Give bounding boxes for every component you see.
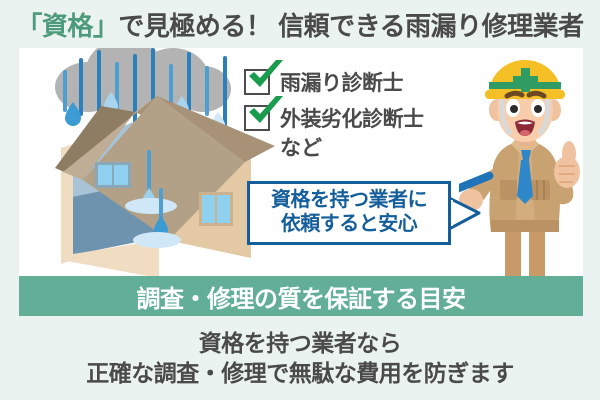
qualification-checklist: 雨漏り診断士 外装劣化診断士 など [244,64,464,159]
poster-stage: 「資格」で見極める！ 信頼できる雨漏り修理業者 [0,0,600,400]
speech-bubble-tail [449,196,483,232]
speech-bubble-line1: 資格を持つ業者に [271,189,427,213]
checklist-item[interactable]: 外装劣化診断士 [244,100,464,136]
checkmark-icon [245,96,285,130]
checkbox-icon[interactable] [244,105,270,131]
worker-illustration [459,54,583,276]
checkmark-icon [245,60,285,94]
checklist-item-label: 雨漏り診断士 [280,67,403,97]
speech-bubble-line2: 依頼すると安心 [281,213,418,237]
checkbox-icon[interactable] [244,69,270,95]
green-banner-text: 調査・修理の質を保証する目安 [137,279,466,314]
checklist-item[interactable]: 雨漏り診断士 [244,64,464,100]
speech-bubble: 資格を持つ業者に 依頼すると安心 [247,181,451,245]
checklist-item-label: 外装劣化診断士 [280,103,424,133]
page-title: 「資格」で見極める！ 信頼できる雨漏り修理業者 [0,4,600,44]
page-title-accent: 「資格」 [16,6,118,43]
page-title-rest: で見極める！ 信頼できる雨漏り修理業者 [118,6,583,43]
footer-line1: 資格を持つ業者なら [199,328,402,358]
footer-message: 資格を持つ業者なら 正確な調査・修理で無駄な費用を防ぎます [0,320,600,396]
checklist-extra-label: など [280,138,464,159]
green-banner: 調査・修理の質を保証する目安 [19,276,583,316]
footer-line2: 正確な調査・修理で無駄な費用を防ぎます [86,358,514,388]
leaking-house-illustration [39,88,279,276]
